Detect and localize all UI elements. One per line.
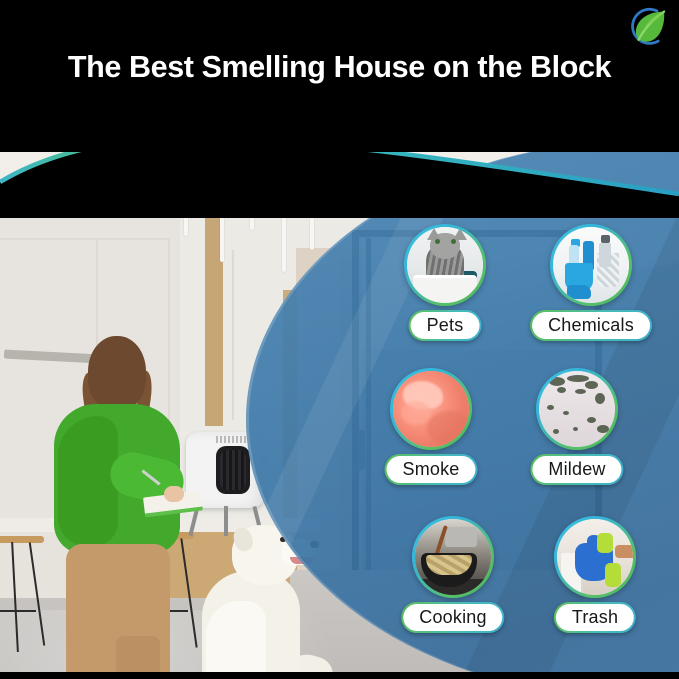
badge-label: Chemicals <box>548 315 634 336</box>
badge-label-pill: Pets <box>409 310 482 341</box>
badge-label: Cooking <box>419 607 486 628</box>
badge-circle <box>390 368 472 450</box>
badge-label: Smoke <box>402 459 459 480</box>
badge-label-pill: Smoke <box>384 454 477 485</box>
bottom-edge <box>0 672 679 679</box>
badge-circle <box>536 368 618 450</box>
trash-icon <box>557 519 633 595</box>
badge-circle <box>554 516 636 598</box>
leaf-logo <box>628 5 670 47</box>
header-bar: The Best Smelling House on the Block <box>0 0 679 152</box>
advertisement-banner: Remove Odors From <box>0 0 679 679</box>
mildew-icon <box>539 371 615 447</box>
pets-icon <box>407 227 483 303</box>
badge-circle <box>412 516 494 598</box>
badge-label-pill: Cooking <box>401 602 504 633</box>
cooking-icon <box>415 519 491 595</box>
badge-label: Mildew <box>548 459 605 480</box>
badge-label-pill: Chemicals <box>530 310 652 341</box>
chemicals-icon <box>553 227 629 303</box>
panel-title: Remove Odors From <box>390 185 675 211</box>
badge-label-pill: Mildew <box>530 454 623 485</box>
badge-label: Trash <box>572 607 618 628</box>
badge-circle <box>404 224 486 306</box>
odor-badge-grid: Remove Odors From <box>0 140 679 679</box>
smoke-icon <box>393 371 469 447</box>
badge-circle <box>550 224 632 306</box>
badge-label: Pets <box>427 315 464 336</box>
badge-label-pill: Trash <box>554 602 636 633</box>
page-title: The Best Smelling House on the Block <box>0 52 679 83</box>
